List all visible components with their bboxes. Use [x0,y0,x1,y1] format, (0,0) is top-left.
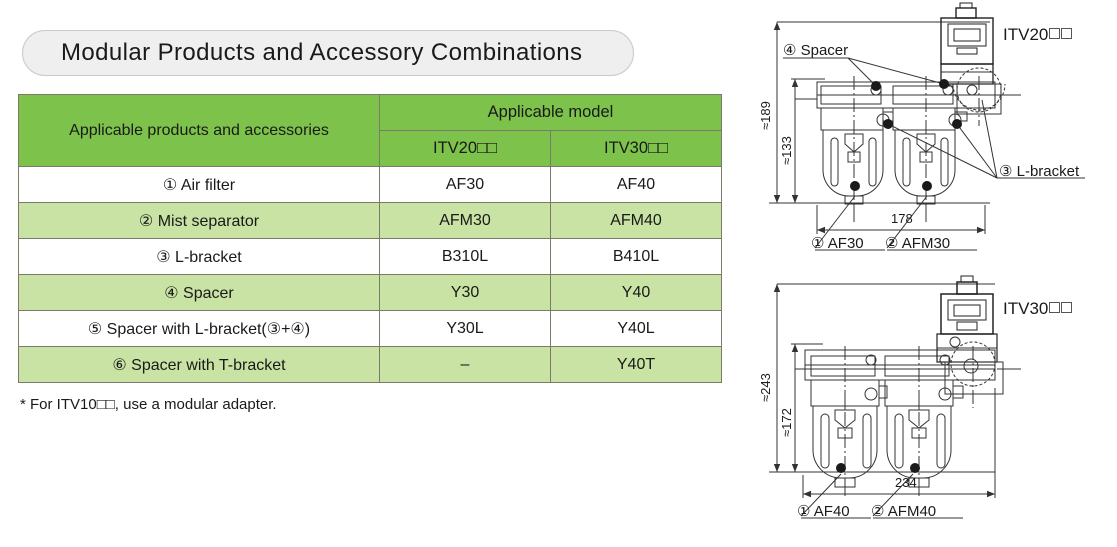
row-value-itv20: AF30 [380,167,551,203]
row-label: ④ Spacer [19,275,380,311]
assembly-drawing-itv20: ≈189 ≈133 178 ④ Spacer ③ L-bracket ① AF3… [745,0,1117,262]
row-value-itv30: Y40L [551,311,722,347]
header-model-itv20: ITV20□□ [380,131,551,167]
dimension-height-243: ≈243 [758,373,773,402]
header-model-itv30: ITV30□□ [551,131,722,167]
square-placeholder-icon [1061,28,1072,39]
callout-underlines [783,58,1085,250]
dimension-height-172: ≈172 [779,408,794,437]
leader-dots [850,79,962,191]
square-placeholder-icon [1061,302,1072,313]
modular-products-table: Applicable products and accessories Appl… [18,94,722,383]
callout-spacer: ④ Spacer [783,41,848,59]
table-row: ⑥ Spacer with T-bracket – Y40T [19,347,722,383]
row-label: ⑤ Spacer with L-bracket(③+④) [19,311,380,347]
dimension-height-189: ≈189 [758,101,773,130]
dimension-width-178: 178 [891,211,913,226]
row-value-itv20: B310L [380,239,551,275]
table-row: ⑤ Spacer with L-bracket(③+④) Y30L Y40L [19,311,722,347]
table-footnote: * For ITV10□□, use a modular adapter. [20,396,277,413]
assembly-drawing-itv30: ≈243 ≈172 234 ① AF40 ② AFM40 ITV30 [745,272,1117,542]
row-value-itv30: Y40 [551,275,722,311]
row-label: ③ L-bracket [19,239,380,275]
row-value-itv30: B410L [551,239,722,275]
model-tag-itv20: ITV20 [1003,25,1072,45]
table-row: ④ Spacer Y30 Y40 [19,275,722,311]
square-placeholder-icon [1049,302,1060,313]
callout-afm30: ② AFM30 [885,234,950,252]
header-applicable-model: Applicable model [380,95,722,131]
table-row: ① Air filter AF30 AF40 [19,167,722,203]
model-tag-itv30: ITV30 [1003,299,1072,319]
row-value-itv30: AF40 [551,167,722,203]
row-label: ⑥ Spacer with T-bracket [19,347,380,383]
callout-l-bracket: ③ L-bracket [999,162,1079,180]
dimension-width-234: 234 [895,475,917,490]
row-value-itv20: Y30L [380,311,551,347]
page-title-pill: Modular Products and Accessory Combinati… [22,30,634,76]
row-value-itv20: Y30 [380,275,551,311]
callout-af40: ① AF40 [797,502,850,520]
table-header-row-1: Applicable products and accessories Appl… [19,95,722,131]
row-label: ② Mist separator [19,203,380,239]
callout-af30: ① AF30 [811,234,864,252]
table-row: ③ L-bracket B310L B410L [19,239,722,275]
table-body: ① Air filter AF30 AF40 ② Mist separator … [19,167,722,383]
model-tag-itv30-text: ITV30 [1003,299,1048,318]
row-label: ① Air filter [19,167,380,203]
model-tag-itv20-text: ITV20 [1003,25,1048,44]
square-placeholder-icon [1049,28,1060,39]
callout-afm40: ② AFM40 [871,502,936,520]
row-value-itv30: Y40T [551,347,722,383]
page-title: Modular Products and Accessory Combinati… [61,39,582,67]
row-value-itv30: AFM40 [551,203,722,239]
row-value-itv20: AFM30 [380,203,551,239]
header-applicable-products: Applicable products and accessories [19,95,380,167]
row-value-itv20: – [380,347,551,383]
table-row: ② Mist separator AFM30 AFM40 [19,203,722,239]
dimension-height-133: ≈133 [779,136,794,165]
